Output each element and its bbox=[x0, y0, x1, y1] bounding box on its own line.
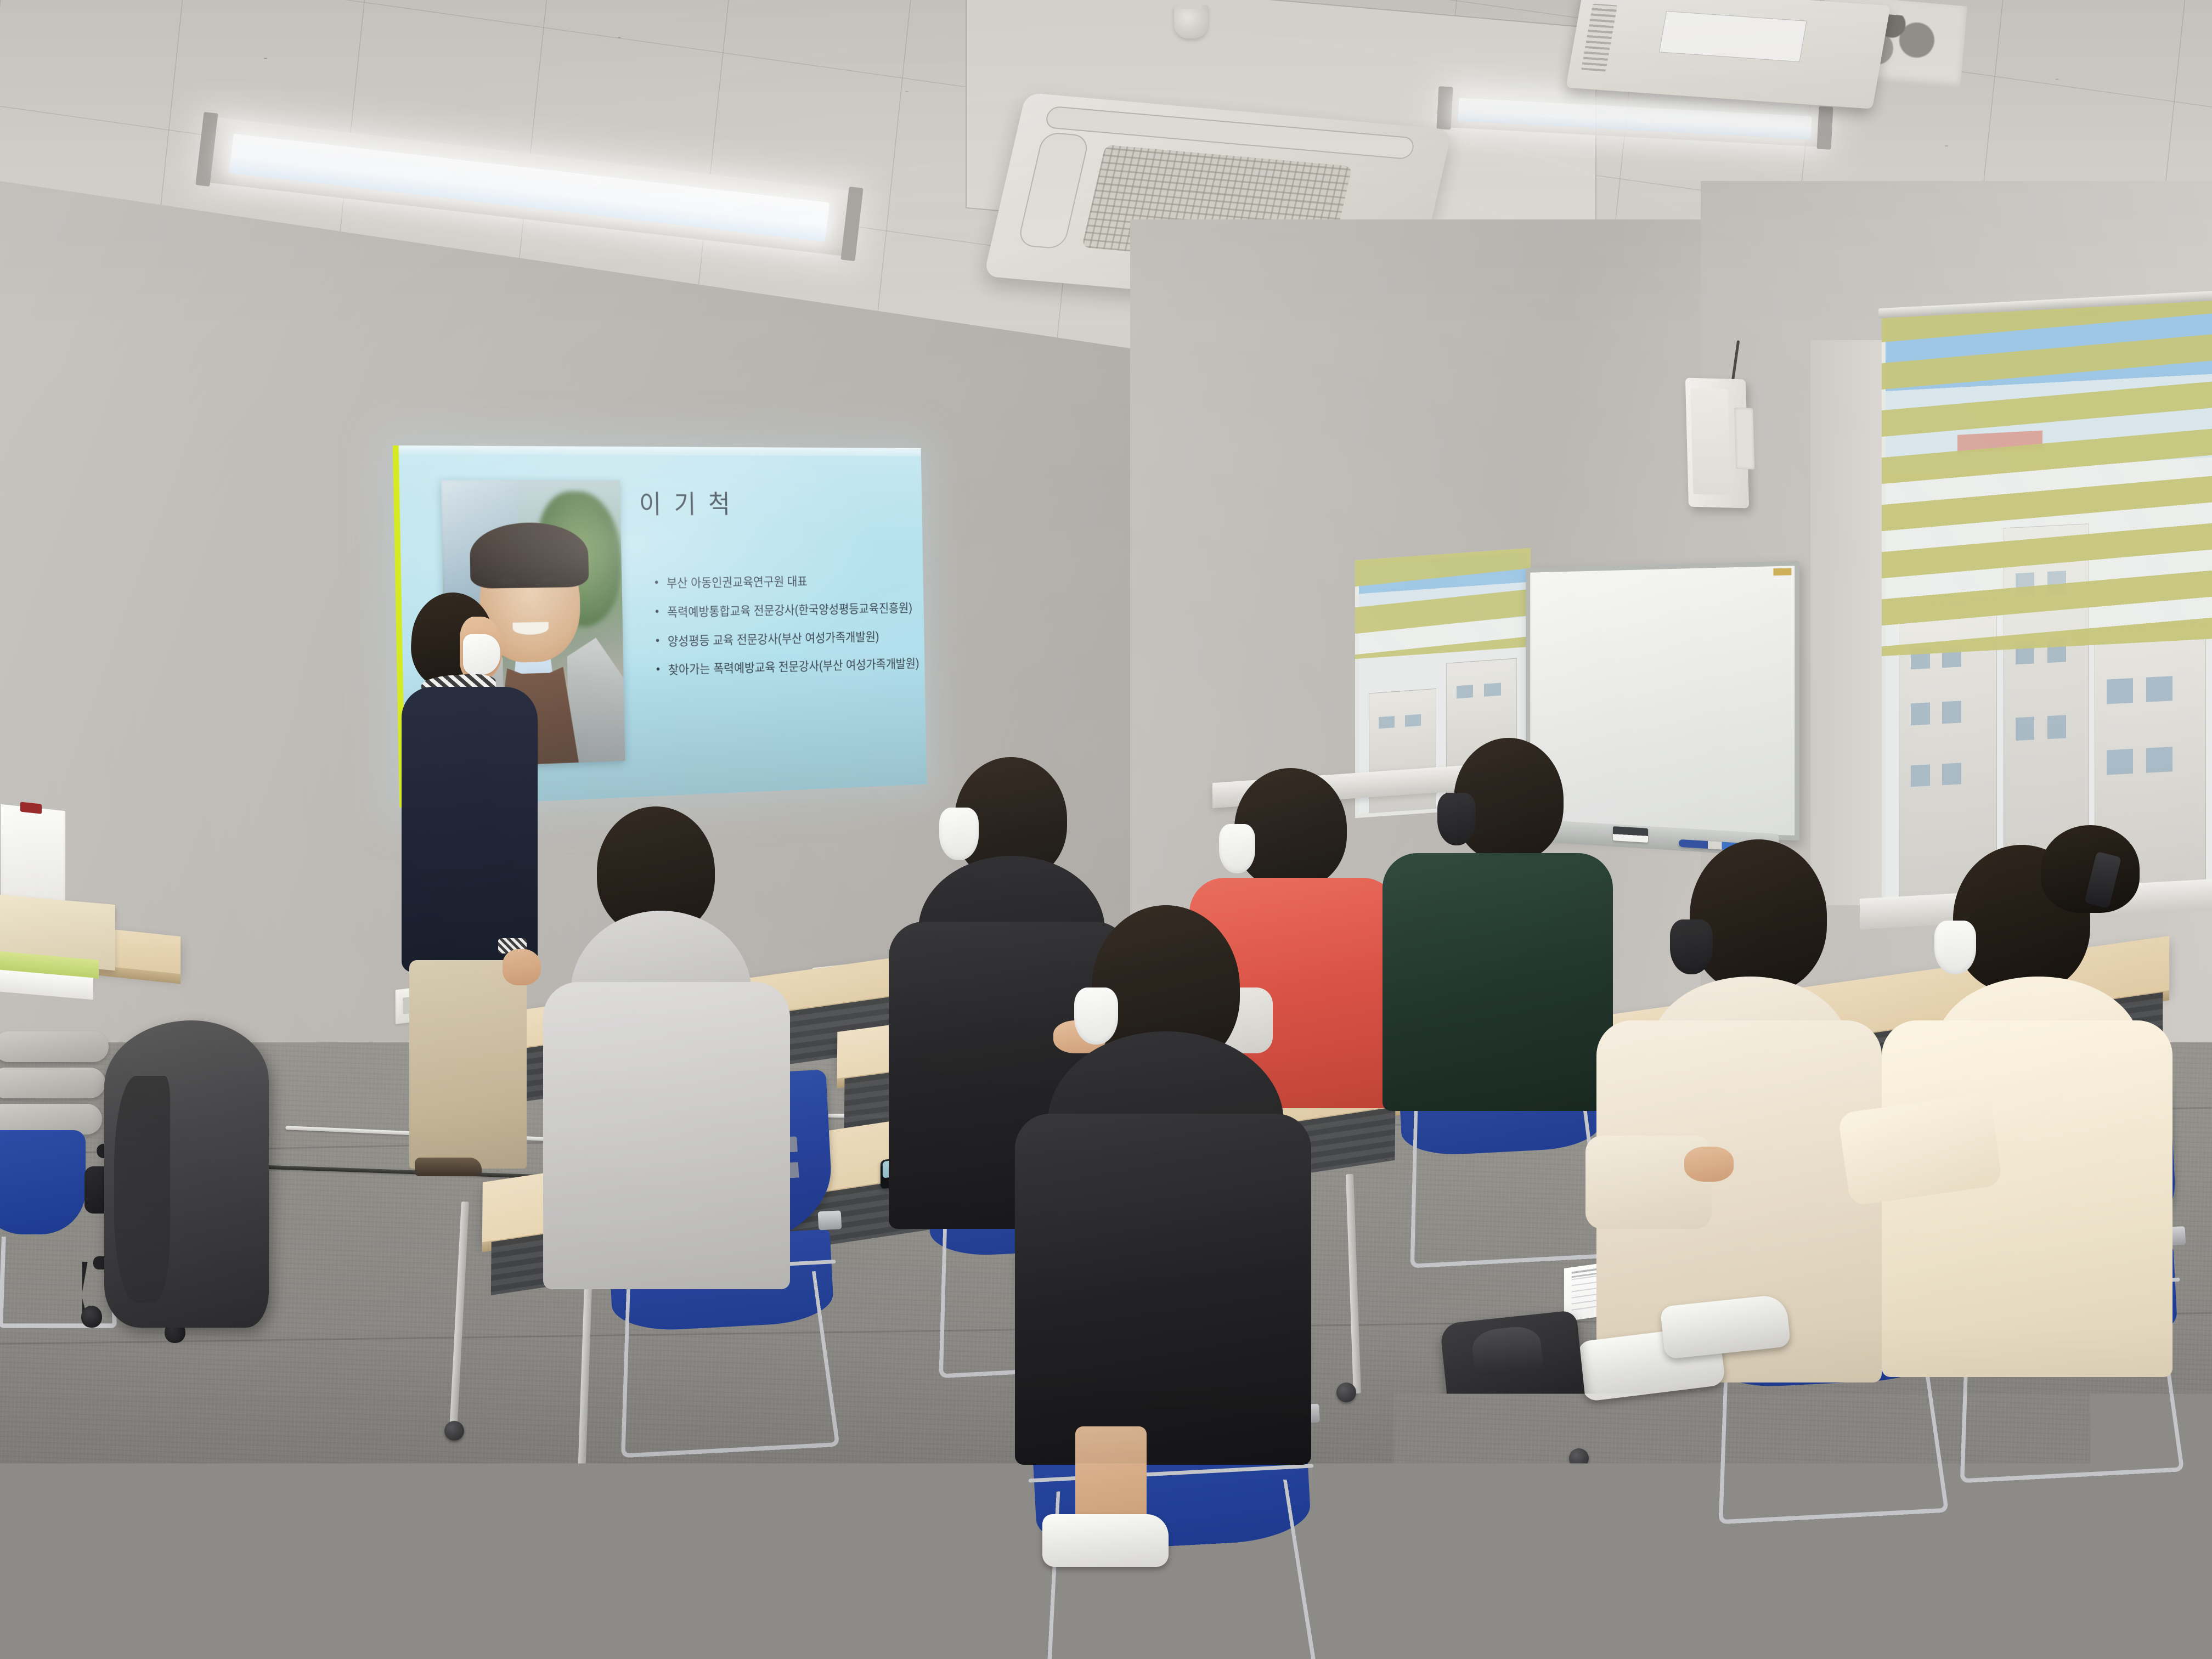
fire-sprinkler-icon bbox=[1174, 5, 1208, 38]
student-hand bbox=[1684, 1147, 1734, 1182]
presenter-shoe bbox=[415, 1158, 482, 1176]
wall-speaker bbox=[1685, 378, 1749, 509]
student-face-mask-dark bbox=[1670, 919, 1713, 974]
student-green-fleece-body bbox=[1383, 853, 1613, 1111]
slide-bullet-1: 부산 아동인권교육연구원 대표 bbox=[653, 573, 916, 591]
student-gray-hoodie bbox=[538, 806, 795, 1300]
coat-draped-on-chair bbox=[104, 1020, 269, 1328]
student-green-fleece bbox=[1383, 738, 1613, 1111]
whiteboard-corner-tape bbox=[1773, 568, 1791, 575]
student-beige-hoodie-body bbox=[1882, 1020, 2172, 1377]
slide-bullet-4: 찾아가는 폭력예방교육 전문강사(부산 여성가족개발원) bbox=[655, 656, 917, 678]
student-face-mask bbox=[1219, 824, 1255, 873]
student-beige-hoodie bbox=[1882, 839, 2178, 1388]
presenter-face-mask bbox=[463, 634, 500, 675]
presenter-khaki-trousers bbox=[409, 960, 527, 1169]
classroom-photo-scene: 이 기 척 부산 아동인권교육연구원 대표 폭력예방통합교육 전문강사(한국양성… bbox=[0, 0, 2212, 1659]
slide-bullet-3: 양성평등 교육 전문강사(부산 여성가족개발원) bbox=[654, 628, 917, 649]
student-face-mask bbox=[939, 808, 979, 860]
right-window bbox=[1882, 298, 2212, 919]
presenter-navy-sweater bbox=[402, 687, 538, 972]
slide-title: 이 기 척 bbox=[639, 483, 733, 521]
student-gray-hoodie-body bbox=[543, 982, 790, 1289]
student-face-mask bbox=[1074, 988, 1118, 1045]
presenter-hands bbox=[503, 949, 541, 985]
wall-pillar bbox=[1810, 340, 1882, 905]
table-caster bbox=[444, 1421, 464, 1441]
table-caster bbox=[1336, 1383, 1356, 1402]
student-face-mask bbox=[1934, 921, 1976, 974]
student-black-hoodie-body bbox=[1015, 1114, 1311, 1465]
slide-bullet-list: 부산 아동인권교육연구원 대표 폭력예방통합교육 전문강사(한국양성평등교육진흥… bbox=[653, 573, 918, 692]
table-caster bbox=[573, 1488, 592, 1508]
student-head bbox=[1690, 839, 1827, 993]
student-black-hoodie bbox=[1009, 905, 1317, 1536]
student-face-mask-dark bbox=[1437, 793, 1476, 845]
presenter bbox=[395, 592, 560, 1174]
slide-bullet-2: 폭력예방통합교육 전문강사(한국양성평등교육진흥원) bbox=[654, 601, 917, 620]
window-view bbox=[1886, 302, 2212, 915]
student-white-sneaker bbox=[1042, 1514, 1169, 1567]
